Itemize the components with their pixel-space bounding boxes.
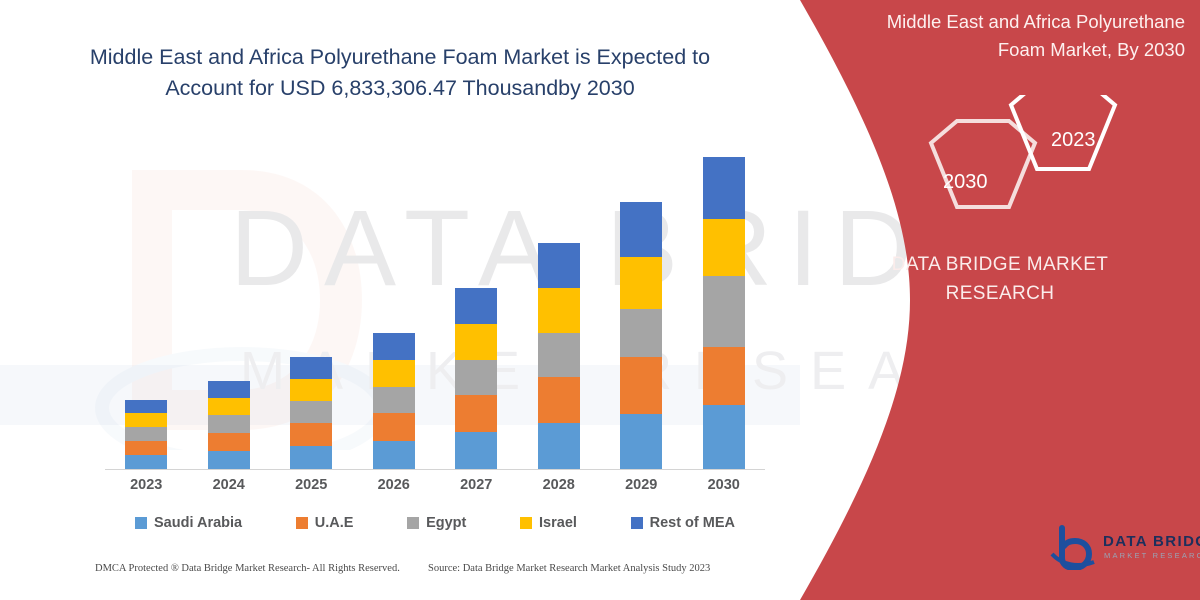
legend-item[interactable]: U.A.E: [296, 515, 354, 531]
bar-segment[interactable]: [208, 451, 250, 469]
bar-segment[interactable]: [455, 288, 497, 324]
bar-segment[interactable]: [620, 357, 662, 415]
hexagon-label-2030: 2030: [943, 171, 988, 194]
stacked-bar[interactable]: [373, 333, 415, 469]
bar-slot: [270, 151, 353, 469]
bar-segment[interactable]: [455, 395, 497, 432]
stacked-bar[interactable]: [208, 381, 250, 469]
legend-label: Rest of MEA: [650, 515, 735, 531]
x-axis-label: 2029: [600, 477, 683, 493]
bar-slot: [435, 151, 518, 469]
footer: DMCA Protected ® Data Bridge Market Rese…: [0, 563, 800, 587]
bar-segment[interactable]: [125, 400, 167, 413]
bar-segment[interactable]: [290, 357, 332, 379]
x-axis-label: 2025: [270, 477, 353, 493]
infographic-root: DATA BRIDGE MARKET RESEARCH Middle East …: [0, 0, 1200, 600]
bar-segment[interactable]: [290, 401, 332, 423]
bar-segment[interactable]: [703, 276, 745, 347]
bar-segment[interactable]: [538, 377, 580, 424]
bar-segment[interactable]: [125, 413, 167, 427]
chart-legend: Saudi ArabiaU.A.EEgyptIsraelRest of MEA: [105, 510, 765, 536]
x-axis-label: 2028: [518, 477, 601, 493]
axis-baseline: [105, 469, 765, 470]
x-axis-label: 2026: [353, 477, 436, 493]
right-panel-title: Middle East and Africa Polyurethane Foam…: [840, 8, 1185, 64]
bar-slot: [353, 151, 436, 469]
bar-segment[interactable]: [373, 441, 415, 469]
bar-segment[interactable]: [455, 324, 497, 360]
bar-segment[interactable]: [703, 219, 745, 277]
legend-swatch: [520, 517, 532, 529]
right-panel: Middle East and Africa Polyurethane Foam…: [780, 0, 1200, 600]
bar-segment[interactable]: [373, 360, 415, 387]
x-axis-labels: 20232024202520262027202820292030: [105, 477, 765, 493]
bar-segment[interactable]: [208, 381, 250, 398]
footer-copyright: DMCA Protected ® Data Bridge Market Rese…: [95, 563, 400, 574]
bar-segment[interactable]: [538, 423, 580, 469]
legend-item[interactable]: Israel: [520, 515, 577, 531]
bar-segment[interactable]: [538, 333, 580, 377]
bar-segment[interactable]: [125, 455, 167, 469]
logo-text: DATA BRIDGE: [1103, 533, 1200, 550]
bar-slot: [683, 151, 766, 469]
page-title: Middle East and Africa Polyurethane Foam…: [70, 42, 730, 104]
brand-name: DATA BRIDGE MARKET RESEARCH: [835, 250, 1165, 309]
bar-segment[interactable]: [208, 398, 250, 416]
legend-swatch: [631, 517, 643, 529]
legend-label: Saudi Arabia: [154, 515, 242, 531]
bar-segment[interactable]: [373, 333, 415, 360]
hexagon-label-2023: 2023: [1051, 129, 1096, 152]
bar-segment[interactable]: [703, 347, 745, 406]
stacked-bar[interactable]: [125, 400, 167, 469]
bar-segment[interactable]: [290, 446, 332, 469]
bar-segment[interactable]: [703, 405, 745, 469]
bar-segment[interactable]: [208, 415, 250, 433]
bar-segment[interactable]: [290, 423, 332, 446]
bar-segment[interactable]: [125, 427, 167, 441]
bar-segment[interactable]: [620, 202, 662, 258]
bar-slot: [188, 151, 271, 469]
bar-segment[interactable]: [620, 309, 662, 357]
bar-slot: [600, 151, 683, 469]
legend-label: Israel: [539, 515, 577, 531]
stacked-bar[interactable]: [620, 202, 662, 469]
bar-slot: [105, 151, 188, 469]
left-panel: Middle East and Africa Polyurethane Foam…: [0, 0, 800, 600]
legend-item[interactable]: Rest of MEA: [631, 515, 735, 531]
x-axis-label: 2030: [683, 477, 766, 493]
bar-segment[interactable]: [620, 414, 662, 469]
x-axis-label: 2023: [105, 477, 188, 493]
hexagon-shapes-icon: [905, 95, 1125, 225]
legend-swatch: [407, 517, 419, 529]
bar-segment[interactable]: [620, 257, 662, 309]
stacked-bar[interactable]: [290, 357, 332, 469]
x-axis-label: 2024: [188, 477, 271, 493]
bar-segment[interactable]: [538, 288, 580, 333]
stacked-bar[interactable]: [538, 243, 580, 469]
bar-segment[interactable]: [125, 441, 167, 455]
data-bridge-logo: DATA BRIDGE MARKET RESEARCH: [1048, 524, 1193, 572]
bar-segment[interactable]: [208, 433, 250, 451]
legend-swatch: [296, 517, 308, 529]
bar-segment[interactable]: [290, 379, 332, 402]
stacked-bar[interactable]: [703, 157, 745, 469]
footer-source: Source: Data Bridge Market Research Mark…: [428, 563, 710, 574]
hexagon-group: 2030 2023: [905, 95, 1125, 225]
stacked-bar[interactable]: [455, 288, 497, 469]
bar-segment[interactable]: [455, 432, 497, 469]
logo-mark-icon: [1048, 524, 1103, 570]
legend-swatch: [135, 517, 147, 529]
bar-group: [105, 151, 765, 469]
legend-label: U.A.E: [315, 515, 354, 531]
bar-segment[interactable]: [373, 413, 415, 441]
legend-label: Egypt: [426, 515, 466, 531]
logo-subtext: MARKET RESEARCH: [1104, 551, 1200, 560]
x-axis-label: 2027: [435, 477, 518, 493]
bar-segment[interactable]: [538, 243, 580, 288]
bar-segment[interactable]: [703, 157, 745, 219]
legend-item[interactable]: Egypt: [407, 515, 466, 531]
legend-item[interactable]: Saudi Arabia: [135, 515, 242, 531]
bar-segment[interactable]: [455, 360, 497, 396]
bar-segment[interactable]: [373, 387, 415, 414]
bar-slot: [518, 151, 601, 469]
stacked-bar-chart: [105, 140, 765, 470]
